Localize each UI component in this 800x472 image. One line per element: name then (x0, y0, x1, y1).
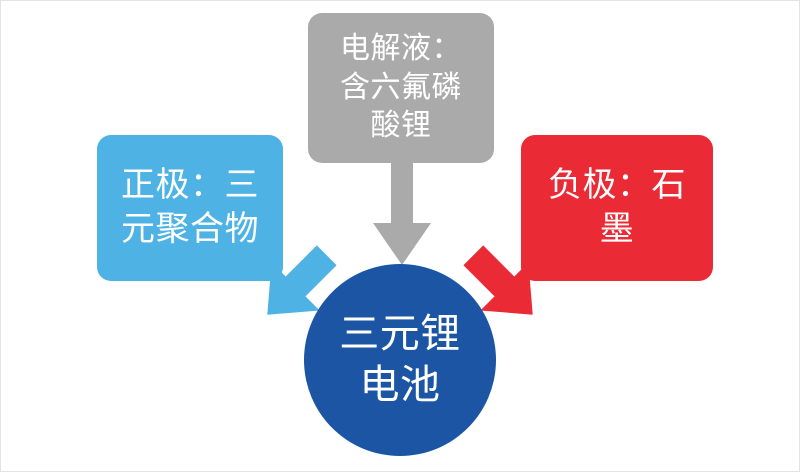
node-anode: 负极：石 墨 (521, 135, 713, 281)
arrow-electrolyte-to-battery (367, 161, 437, 271)
node-electrolyte-label: 电解液： 含六氟磷 酸锂 (340, 30, 462, 145)
diagram-canvas: 电解液： 含六氟磷 酸锂 正极：三 元聚合物 负极：石 墨 三元锂 电池 (0, 0, 800, 472)
node-cathode: 正极：三 元聚合物 (97, 135, 283, 281)
node-electrolyte: 电解液： 含六氟磷 酸锂 (308, 13, 494, 163)
node-battery: 三元锂 电池 (304, 264, 496, 456)
node-cathode-label: 正极：三 元聚合物 (121, 164, 259, 251)
node-battery-label: 三元锂 电池 (339, 309, 461, 411)
node-anode-label: 负极：石 墨 (548, 164, 686, 251)
